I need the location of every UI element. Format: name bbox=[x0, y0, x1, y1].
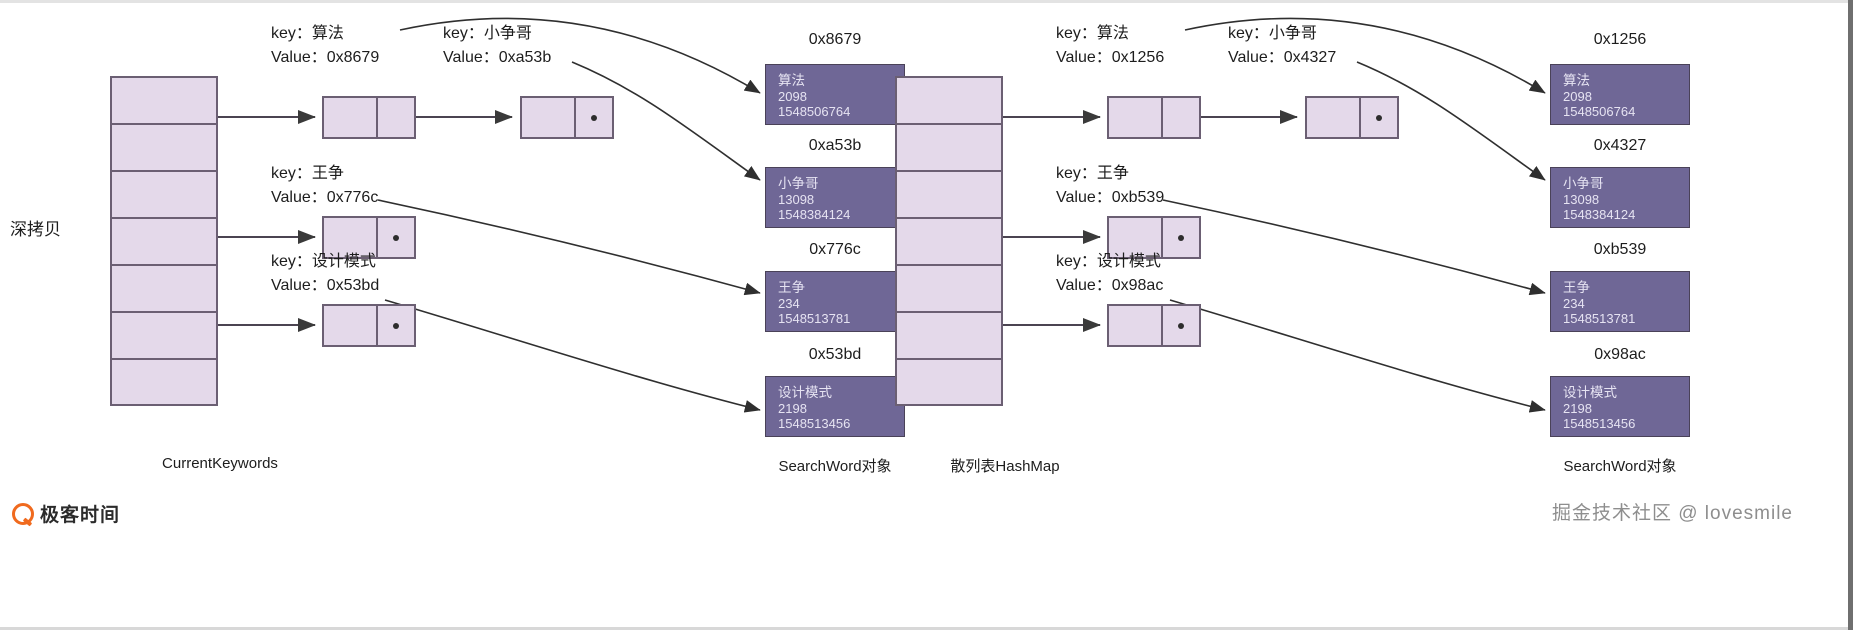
object-address-right-3: 0x98ac bbox=[1550, 346, 1690, 364]
bucket-cell[interactable] bbox=[897, 360, 1001, 405]
node-key-cell bbox=[522, 98, 576, 137]
object-timestamp: 1548513456 bbox=[778, 416, 904, 432]
node-key-cell bbox=[324, 306, 378, 345]
object-name: 算法 bbox=[778, 73, 904, 89]
node-next-cell bbox=[1361, 98, 1397, 137]
node-key-cell bbox=[324, 98, 378, 137]
node-key-cell bbox=[1109, 98, 1163, 137]
node-next-cell bbox=[378, 218, 414, 257]
bucket-cell[interactable] bbox=[112, 219, 216, 266]
object-count: 234 bbox=[1563, 296, 1689, 312]
object-address-left-2: 0x776c bbox=[765, 241, 905, 259]
object-timestamp: 1548506764 bbox=[1563, 104, 1689, 120]
object-address-right-0: 0x1256 bbox=[1550, 31, 1690, 49]
structure-caption-right: 散列表HashMap bbox=[895, 455, 1115, 476]
node-next-cell bbox=[378, 306, 414, 345]
geektime-logo: 极客时间 bbox=[12, 500, 120, 527]
entry-key-label: key：设计模式 bbox=[271, 250, 379, 274]
object-count: 2098 bbox=[1563, 89, 1689, 105]
entry-value-label: Value：0x1256 bbox=[1056, 46, 1164, 70]
object-box-left-2: 王争 234 1548513781 bbox=[765, 271, 905, 332]
structure-caption-left: CurrentKeywords bbox=[110, 455, 330, 472]
bucket-cell[interactable] bbox=[112, 172, 216, 219]
object-address-left-3: 0x53bd bbox=[765, 346, 905, 364]
bucket-cell[interactable] bbox=[897, 78, 1001, 125]
entry-caption-left-0: key：算法 Value：0x8679 bbox=[271, 22, 379, 70]
object-count: 2198 bbox=[778, 401, 904, 417]
object-box-left-0: 算法 2098 1548506764 bbox=[765, 64, 905, 125]
entry-key-label: key：小争哥 bbox=[443, 22, 551, 46]
entry-key-label: key：王争 bbox=[1056, 162, 1164, 186]
list-node-right-0[interactable] bbox=[1107, 96, 1201, 139]
null-pointer-dot bbox=[393, 235, 399, 241]
diagram-canvas: 深拷贝 key：算法 Value：0x8679 key：小争哥 Value：0x… bbox=[0, 0, 1853, 630]
entry-caption-left-1: key：小争哥 Value：0xa53b bbox=[443, 22, 551, 70]
bucket-cell[interactable] bbox=[897, 266, 1001, 313]
object-name: 小争哥 bbox=[1563, 176, 1689, 192]
object-name: 算法 bbox=[1563, 73, 1689, 89]
entry-key-label: key：设计模式 bbox=[1056, 250, 1163, 274]
bucket-array-right bbox=[895, 76, 1003, 406]
geektime-logo-text: 极客时间 bbox=[40, 500, 120, 527]
node-next-cell bbox=[1163, 218, 1199, 257]
node-next-cell bbox=[576, 98, 612, 137]
arrow-value-to-object bbox=[385, 300, 760, 410]
entry-value-label: Value：0xb539 bbox=[1056, 186, 1164, 210]
object-box-left-3: 设计模式 2198 1548513456 bbox=[765, 376, 905, 437]
object-timestamp: 1548513781 bbox=[778, 311, 904, 327]
bucket-cell[interactable] bbox=[897, 125, 1001, 172]
object-box-right-1: 小争哥 13098 1548384124 bbox=[1550, 167, 1690, 228]
objects-caption-right: SearchWord对象 bbox=[1510, 455, 1730, 476]
object-name: 王争 bbox=[778, 280, 904, 296]
object-count: 234 bbox=[778, 296, 904, 312]
entry-key-label: key：算法 bbox=[1056, 22, 1164, 46]
bucket-cell[interactable] bbox=[897, 172, 1001, 219]
canvas-top-edge bbox=[0, 0, 1853, 3]
bucket-cell[interactable] bbox=[897, 313, 1001, 360]
bucket-array-left bbox=[110, 76, 218, 406]
object-box-right-3: 设计模式 2198 1548513456 bbox=[1550, 376, 1690, 437]
object-count: 2198 bbox=[1563, 401, 1689, 417]
object-box-right-0: 算法 2098 1548506764 bbox=[1550, 64, 1690, 125]
deep-copy-label: 深拷贝 bbox=[10, 215, 61, 240]
object-address-left-1: 0xa53b bbox=[765, 137, 905, 155]
entry-caption-right-2: key：王争 Value：0xb539 bbox=[1056, 162, 1164, 210]
object-box-left-1: 小争哥 13098 1548384124 bbox=[765, 167, 905, 228]
null-pointer-dot bbox=[393, 323, 399, 329]
node-key-cell bbox=[1109, 306, 1163, 345]
entry-value-label: Value：0x98ac bbox=[1056, 274, 1163, 298]
node-next-cell bbox=[1163, 98, 1199, 137]
list-node-left-3[interactable] bbox=[322, 304, 416, 347]
entry-key-label: key：王争 bbox=[271, 162, 378, 186]
bucket-cell[interactable] bbox=[897, 219, 1001, 266]
entry-caption-left-2: key：王争 Value：0x776c bbox=[271, 162, 378, 210]
null-pointer-dot bbox=[1178, 323, 1184, 329]
object-timestamp: 1548384124 bbox=[1563, 207, 1689, 223]
entry-key-label: key：算法 bbox=[271, 22, 379, 46]
object-timestamp: 1548384124 bbox=[778, 207, 904, 223]
object-count: 2098 bbox=[778, 89, 904, 105]
list-node-left-1[interactable] bbox=[520, 96, 614, 139]
object-count: 13098 bbox=[1563, 192, 1689, 208]
entry-value-label: Value：0xa53b bbox=[443, 46, 551, 70]
object-timestamp: 1548513456 bbox=[1563, 416, 1689, 432]
bucket-cell[interactable] bbox=[112, 125, 216, 172]
bucket-cell[interactable] bbox=[112, 313, 216, 360]
entry-value-label: Value：0x53bd bbox=[271, 274, 379, 298]
list-node-right-3[interactable] bbox=[1107, 304, 1201, 347]
object-name: 小争哥 bbox=[778, 176, 904, 192]
entry-caption-right-1: key：小争哥 Value：0x4327 bbox=[1228, 22, 1336, 70]
null-pointer-dot bbox=[591, 115, 597, 121]
node-key-cell bbox=[1307, 98, 1361, 137]
geektime-mark-icon bbox=[12, 503, 34, 525]
object-timestamp: 1548506764 bbox=[778, 104, 904, 120]
object-name: 王争 bbox=[1563, 280, 1689, 296]
entry-caption-right-3: key：设计模式 Value：0x98ac bbox=[1056, 250, 1163, 298]
entry-value-label: Value：0x776c bbox=[271, 186, 378, 210]
object-timestamp: 1548513781 bbox=[1563, 311, 1689, 327]
entry-caption-right-0: key：算法 Value：0x1256 bbox=[1056, 22, 1164, 70]
entry-value-label: Value：0x4327 bbox=[1228, 46, 1336, 70]
object-address-right-1: 0x4327 bbox=[1550, 137, 1690, 155]
object-address-right-2: 0xb539 bbox=[1550, 241, 1690, 259]
object-name: 设计模式 bbox=[1563, 385, 1689, 401]
bucket-cell[interactable] bbox=[112, 360, 216, 405]
arrow-value-to-object bbox=[1170, 300, 1545, 410]
object-address-left-0: 0x8679 bbox=[765, 31, 905, 49]
bucket-cell[interactable] bbox=[112, 266, 216, 313]
null-pointer-dot bbox=[1376, 115, 1382, 121]
entry-caption-left-3: key：设计模式 Value：0x53bd bbox=[271, 250, 379, 298]
list-node-left-0[interactable] bbox=[322, 96, 416, 139]
node-next-cell bbox=[1163, 306, 1199, 345]
bucket-cell[interactable] bbox=[112, 78, 216, 125]
arrow-value-to-object bbox=[378, 200, 760, 293]
object-count: 13098 bbox=[778, 192, 904, 208]
entry-value-label: Value：0x8679 bbox=[271, 46, 379, 70]
arrow-value-to-object bbox=[1163, 200, 1545, 293]
object-name: 设计模式 bbox=[778, 385, 904, 401]
object-box-right-2: 王争 234 1548513781 bbox=[1550, 271, 1690, 332]
null-pointer-dot bbox=[1178, 235, 1184, 241]
list-node-right-1[interactable] bbox=[1305, 96, 1399, 139]
watermark-text: 掘金技术社区 @ lovesmile bbox=[1552, 498, 1793, 525]
canvas-right-edge bbox=[1848, 0, 1853, 630]
entry-key-label: key：小争哥 bbox=[1228, 22, 1336, 46]
node-next-cell bbox=[378, 98, 414, 137]
